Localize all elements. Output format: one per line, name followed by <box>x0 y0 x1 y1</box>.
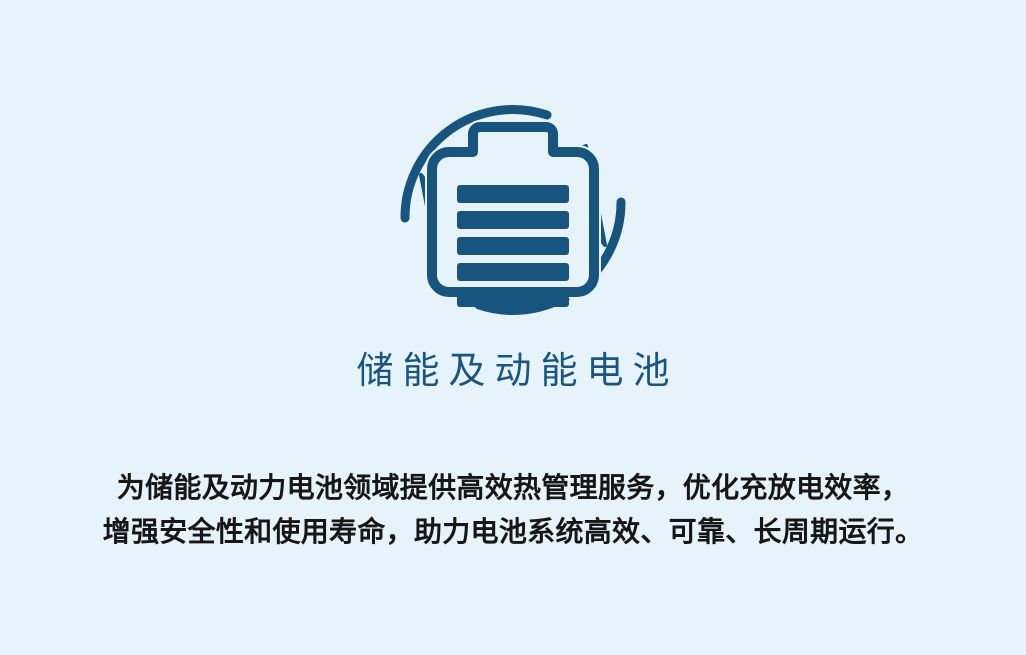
page-root: 储能及动能电池 为储能及动力电池领域提供高效热管理服务，优化充放电效率， 增强安… <box>0 0 1026 655</box>
description-container: 为储能及动力电池领域提供高效热管理服务，优化充放电效率， 增强安全性和使用寿命，… <box>0 466 1026 554</box>
description-line-2: 增强安全性和使用寿命，助力电池系统高效、可靠、长周期运行。 <box>0 510 1026 554</box>
battery-icon <box>432 127 594 307</box>
description-line-1: 为储能及动力电池领域提供高效热管理服务，优化充放电效率， <box>0 466 1026 510</box>
page-title: 储能及动能电池 <box>348 348 679 394</box>
battery-bar <box>457 289 569 307</box>
icon-container <box>0 82 1026 338</box>
battery-bar <box>457 211 569 229</box>
battery-bar <box>457 263 569 281</box>
title-container: 储能及动能电池 <box>0 348 1026 394</box>
battery-bar <box>457 185 569 203</box>
battery-bar <box>457 237 569 255</box>
battery-recycle-icon <box>387 84 639 336</box>
